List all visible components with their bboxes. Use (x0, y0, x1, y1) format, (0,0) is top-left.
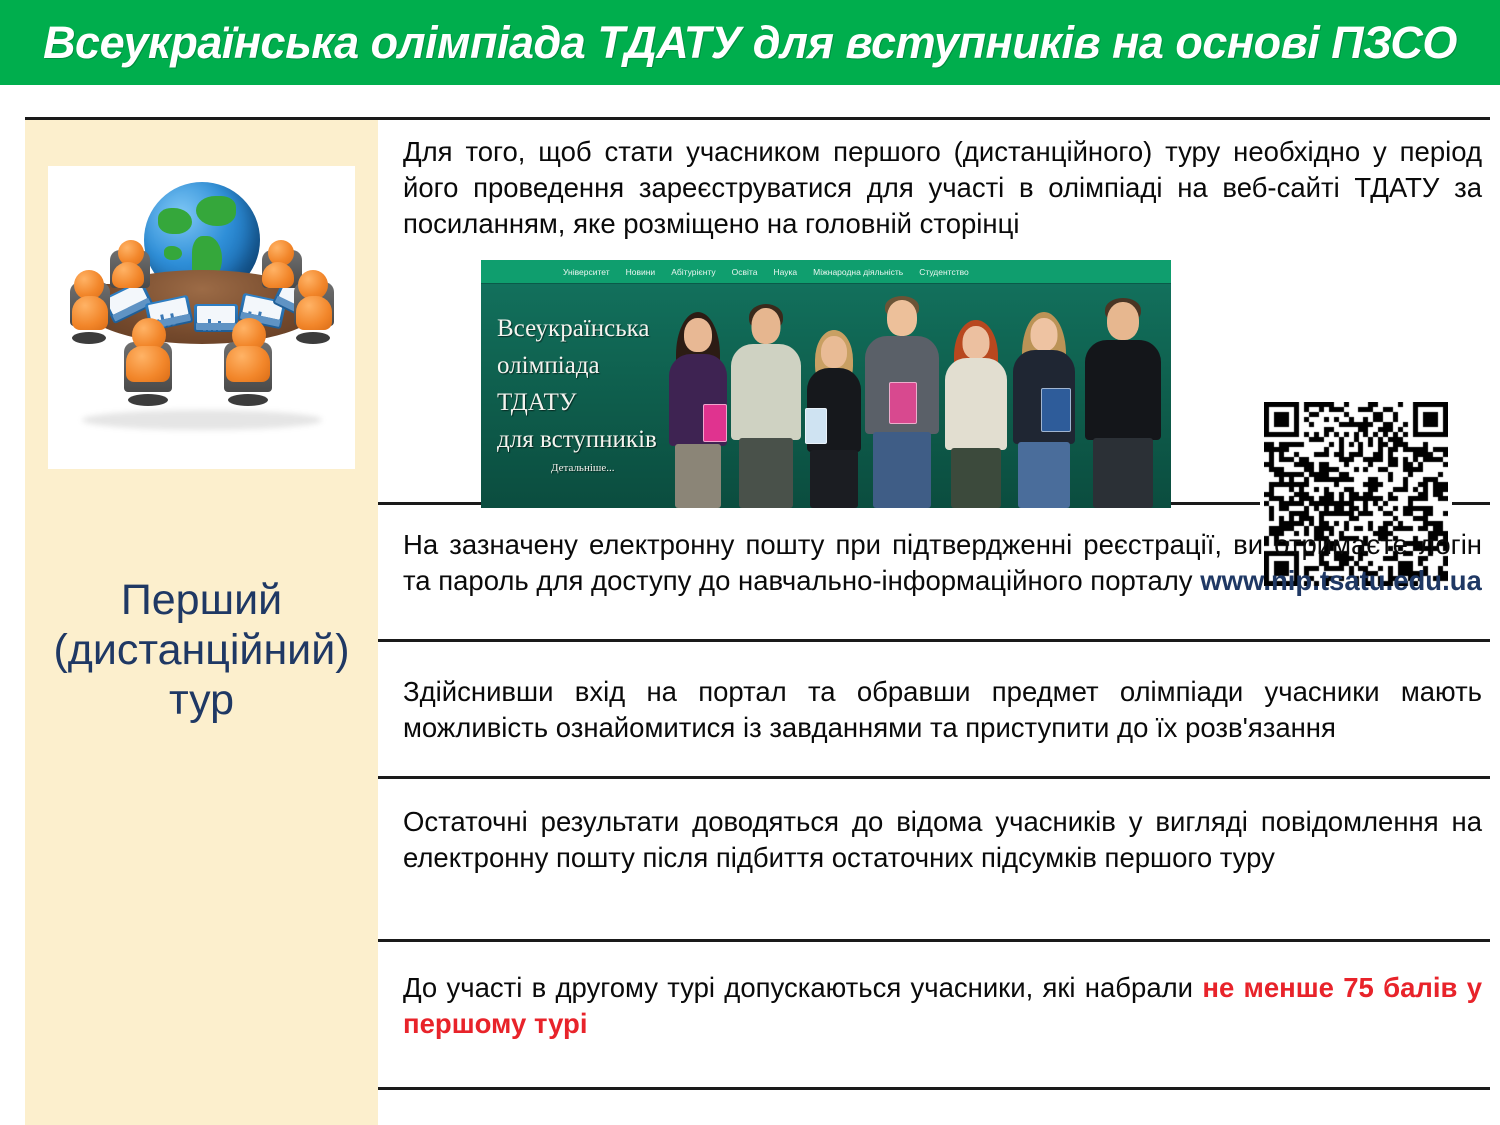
banner-headline-line: для вступників (497, 421, 677, 458)
banner-body: Всеукраїнська олімпіада ТДАТУ для вступн… (481, 284, 1171, 508)
students-photo (661, 296, 1169, 508)
row-threshold-text: До участі в другому турі допускаються уч… (403, 970, 1490, 1042)
globe-landmass (158, 208, 192, 234)
row-registration: Для того, щоб стати учасником першого (д… (378, 120, 1490, 505)
row-registration-text: Для того, щоб стати учасником першого (д… (403, 134, 1490, 242)
student-figure (1081, 298, 1165, 508)
row-credentials: На зазначену електронну пошту при підтве… (378, 505, 1490, 642)
banner-nav[interactable]: Університет Новини Абітурієнту Освіта На… (481, 260, 1171, 284)
banner-nav-item[interactable]: Міжнародна діяльність (813, 267, 903, 277)
student-figure (861, 296, 943, 508)
student-figure (801, 316, 867, 508)
page-title: Всеукраїнська олімпіада ТДАТУ для вступн… (43, 20, 1457, 65)
banner-headline: Всеукраїнська олімпіада ТДАТУ для вступн… (497, 310, 677, 476)
globe-landmass (196, 196, 236, 226)
content-table: Перший (дистанційний) тур Для того, щоб … (25, 117, 1490, 1107)
student-figure (939, 310, 1013, 508)
student-figure (1007, 304, 1081, 508)
banner-headline-line: олімпіада (497, 347, 677, 384)
page-header-banner: Всеукраїнська олімпіада ТДАТУ для вступн… (0, 0, 1500, 85)
round-table-globe-illustration (48, 166, 355, 469)
row-results: Остаточні результати доводяться до відом… (378, 779, 1490, 942)
banner-nav-item[interactable]: Абітурієнту (671, 267, 715, 277)
banner-and-qr-area: Університет Новини Абітурієнту Освіта На… (403, 260, 1490, 510)
illustration-shadow (82, 410, 322, 430)
sidebar-stage-label: Перший (дистанційний) тур (32, 576, 372, 726)
banner-headline-line: ТДАТУ (497, 384, 677, 421)
row-tasks-text: Здійснивши вхід на портал та обравши пре… (403, 674, 1490, 746)
banner-more-link[interactable]: Детальніше... (551, 460, 677, 476)
portal-link[interactable]: www.nip.tsatu.edu.ua (1200, 565, 1482, 596)
sidebar-stage-cell: Перший (дистанційний) тур (25, 120, 378, 1125)
row-threshold-text-before: До участі в другому турі допускаються уч… (403, 972, 1202, 1003)
banner-nav-item[interactable]: Новини (626, 267, 656, 277)
banner-nav-item[interactable]: Університет (563, 267, 610, 277)
banner-nav-item[interactable]: Наука (773, 267, 797, 277)
banner-headline-line: Всеукраїнська (497, 310, 677, 347)
row-credentials-text: На зазначену електронну пошту при підтве… (403, 527, 1490, 599)
globe-landmass (164, 246, 182, 260)
row-threshold: До участі в другому турі допускаються уч… (378, 942, 1490, 1090)
banner-nav-item[interactable]: Студентство (919, 267, 969, 277)
banner-nav-item[interactable]: Освіта (732, 267, 758, 277)
laptop-icon (194, 304, 238, 332)
tsatu-website-banner[interactable]: Університет Новини Абітурієнту Освіта На… (481, 260, 1171, 508)
row-results-text: Остаточні результати доводяться до відом… (403, 804, 1490, 876)
row-tasks: Здійснивши вхід на портал та обравши пре… (378, 642, 1490, 779)
student-figure (727, 302, 805, 508)
student-figure (665, 308, 731, 508)
rows-container: Для того, щоб стати учасником першого (д… (378, 120, 1490, 1090)
